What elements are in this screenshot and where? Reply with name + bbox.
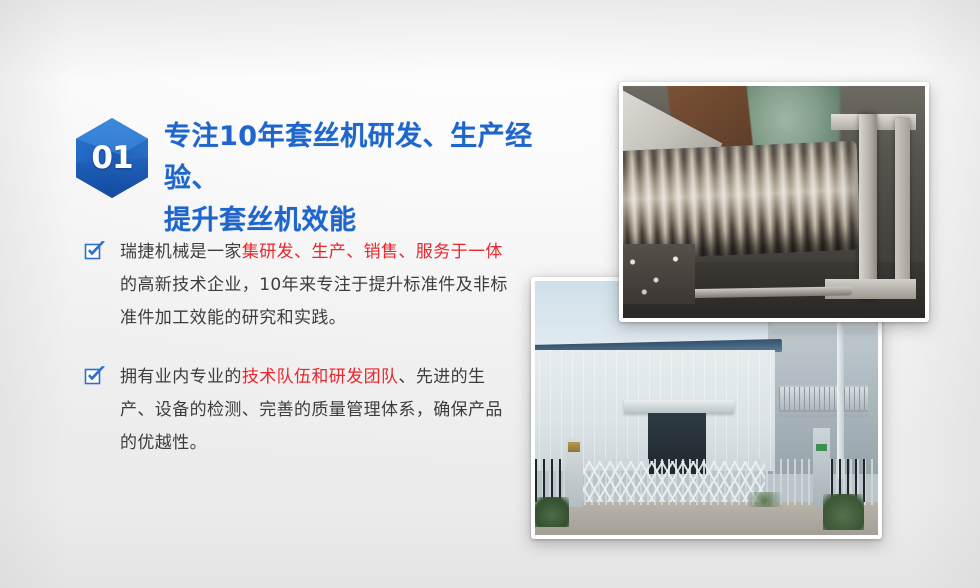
exit-sign-icon: [816, 444, 826, 452]
shrub-center: [748, 492, 782, 507]
caliper-jaw-left: [859, 114, 877, 300]
sliding-gate: [580, 461, 765, 502]
checkbox-checked-icon: [84, 365, 106, 387]
segment-normal: 瑞捷机械是一家: [120, 242, 242, 262]
list-item-text: 瑞捷机械是一家集研发、生产、销售、服务于一体的高新技术企业，10年来专注于提升标…: [120, 236, 520, 335]
door-canopy: [624, 400, 734, 413]
segment-normal: 拥有业内专业的: [120, 367, 242, 387]
text-column: 01 专注10年套丝机研发、生产经验、 提升套丝机效能 瑞捷机械是一家集研发、生…: [0, 0, 560, 588]
downspout-pipe: [837, 322, 844, 479]
badge-number: 01: [76, 118, 148, 198]
segment-highlight: 技术队伍和研发团队: [242, 367, 399, 387]
list-item: 拥有业内专业的技术队伍和研发团队、先进的生产、设备的检测、完善的质量管理体系，确…: [84, 361, 520, 460]
threading-machine-photo: [619, 82, 929, 322]
headline-row: 01 专注10年套丝机研发、生产经验、 提升套丝机效能: [76, 116, 546, 242]
page-title: 专注10年套丝机研发、生产经验、 提升套丝机效能: [164, 116, 546, 242]
segment-highlight: 集研发、生产、销售、服务于一体: [242, 242, 503, 262]
machine-photo-inner: [623, 86, 925, 318]
promo-slide: 01 专注10年套丝机研发、生产经验、 提升套丝机效能 瑞捷机械是一家集研发、生…: [0, 0, 980, 588]
segment-normal: 的高新技术企业，10年来专注于提升标准件及非标准件加工效能的研究和实践。: [120, 275, 508, 328]
balcony-railing: [779, 385, 868, 412]
list-item: 瑞捷机械是一家集研发、生产、销售、服务于一体的高新技术企业，10年来专注于提升标…: [84, 236, 520, 335]
list-item-text: 拥有业内专业的技术队伍和研发团队、先进的生产、设备的检测、完善的质量管理体系，确…: [120, 361, 520, 460]
metal-chips: [623, 244, 695, 304]
shrub-right: [823, 494, 864, 530]
caliper-jaw-right: [895, 118, 910, 290]
shrub-left: [535, 497, 569, 527]
feature-list: 瑞捷机械是一家集研发、生产、销售、服务于一体的高新技术企业，10年来专注于提升标…: [84, 236, 520, 486]
step-number-badge: 01: [76, 118, 148, 198]
checkbox-checked-icon: [84, 240, 106, 262]
threaded-pipe: [623, 141, 861, 261]
company-plaque: [568, 442, 580, 452]
